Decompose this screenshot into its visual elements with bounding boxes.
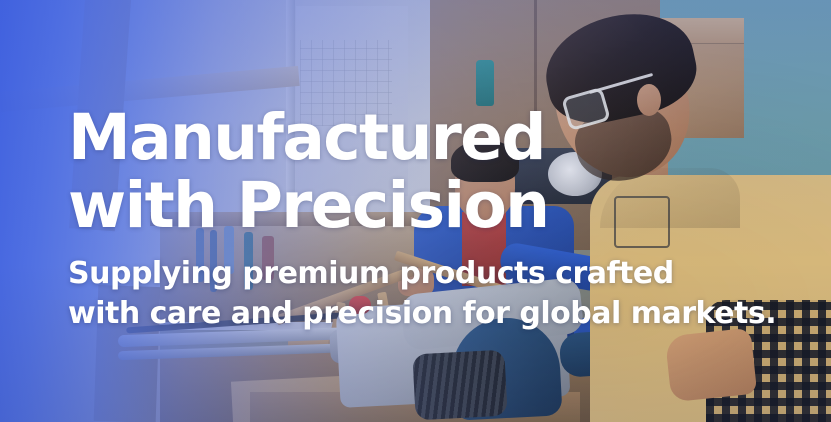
hero-subheadline: Supplying premium products crafted with … [68, 254, 788, 334]
hero-banner: Manufactured with Precision Supplying pr… [0, 0, 831, 422]
hero-headline: Manufactured with Precision [68, 104, 788, 240]
hero-copy: Manufactured with Precision Supplying pr… [68, 104, 788, 334]
